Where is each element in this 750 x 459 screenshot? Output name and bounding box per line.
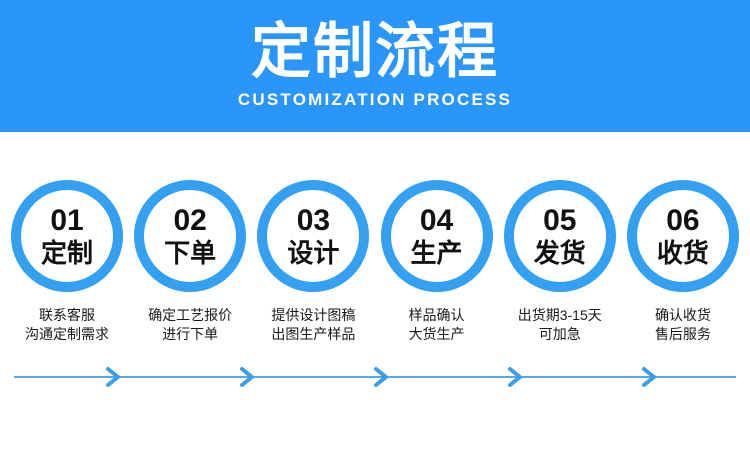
step-description-line-1: 确定工艺报价 <box>148 306 232 325</box>
page-subtitle: CUSTOMIZATION PROCESS <box>238 90 512 110</box>
step-description: 出货期3-15天 可加急 <box>518 306 602 344</box>
process-step-05: 05 发货 出货期3-15天 可加急 <box>501 180 619 344</box>
step-name: 收货 <box>657 239 709 267</box>
process-step-01: 01 定制 联系客服 沟通定制需求 <box>8 180 126 344</box>
step-description-line-2: 大货生产 <box>409 325 465 344</box>
step-description-line-1: 确认收货 <box>655 306 711 325</box>
step-description: 确认收货 售后服务 <box>655 306 711 344</box>
step-badge-circle: 01 定制 <box>11 180 123 292</box>
step-number: 03 <box>297 206 330 236</box>
step-description-line-2: 沟通定制需求 <box>25 325 109 344</box>
step-description: 联系客服 沟通定制需求 <box>25 306 109 344</box>
step-number: 05 <box>543 206 576 236</box>
process-step-02: 02 下单 确定工艺报价 进行下单 <box>131 180 249 344</box>
step-name: 设计 <box>287 239 339 267</box>
process-steps-list: 01 定制 联系客服 沟通定制需求 02 下单 确定工艺报价 进行下单 03 设… <box>0 180 750 360</box>
step-description: 样品确认 大货生产 <box>409 306 465 344</box>
process-flow-arrow-rail <box>0 366 750 388</box>
step-badge-circle: 06 收货 <box>627 180 739 292</box>
page-title: 定制流程 <box>251 20 499 84</box>
process-step-04: 04 生产 样品确认 大货生产 <box>378 180 496 344</box>
step-badge-circle: 03 设计 <box>257 180 369 292</box>
step-badge-circle: 04 生产 <box>381 180 493 292</box>
process-step-03: 03 设计 提供设计图稿 出图生产样品 <box>254 180 372 344</box>
step-badge-circle: 05 发货 <box>504 180 616 292</box>
step-description: 确定工艺报价 进行下单 <box>148 306 232 344</box>
step-description-line-1: 样品确认 <box>409 306 465 325</box>
step-number: 01 <box>50 206 83 236</box>
step-description-line-2: 售后服务 <box>655 325 711 344</box>
step-description: 提供设计图稿 出图生产样品 <box>271 306 355 344</box>
step-name: 发货 <box>534 239 586 267</box>
step-badge-circle: 02 下单 <box>134 180 246 292</box>
step-number: 06 <box>666 206 699 236</box>
step-name: 生产 <box>411 239 463 267</box>
step-description-line-1: 联系客服 <box>25 306 109 325</box>
step-description-line-2: 可加急 <box>518 325 602 344</box>
page-header-banner: 定制流程 CUSTOMIZATION PROCESS <box>0 0 750 132</box>
step-number: 02 <box>174 206 207 236</box>
step-name: 定制 <box>41 239 93 267</box>
step-description-line-1: 提供设计图稿 <box>271 306 355 325</box>
process-step-06: 06 收货 确认收货 售后服务 <box>624 180 742 344</box>
step-number: 04 <box>420 206 453 236</box>
step-description-line-1: 出货期3-15天 <box>518 306 602 325</box>
step-name: 下单 <box>164 239 216 267</box>
step-description-line-2: 进行下单 <box>148 325 232 344</box>
step-description-line-2: 出图生产样品 <box>271 325 355 344</box>
